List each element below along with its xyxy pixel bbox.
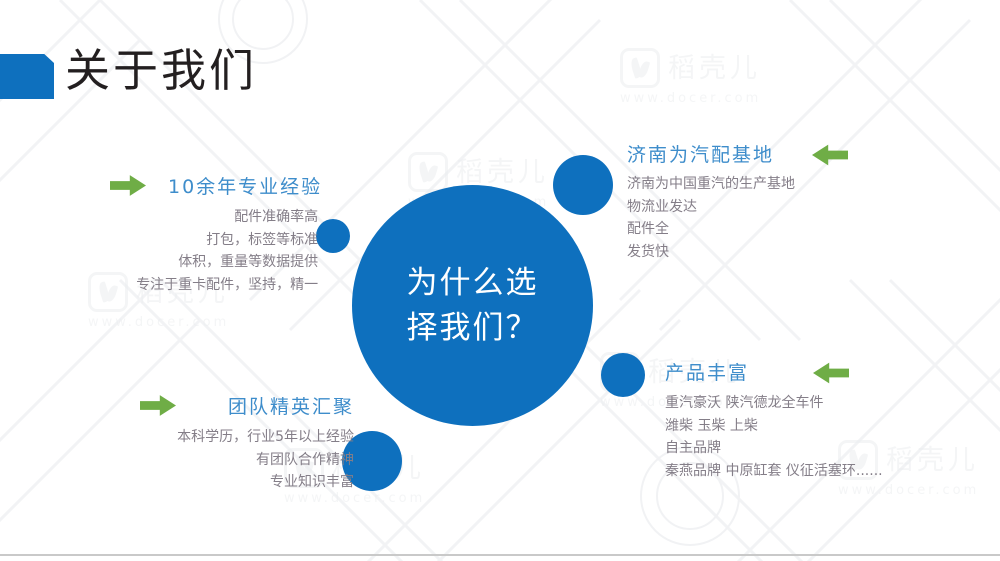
docer-leaf-icon	[408, 152, 448, 192]
center-circle-text: 为什么选 择我们？	[393, 261, 553, 351]
watermark-docer: 稻壳儿 www.docer.com	[620, 48, 761, 106]
center-circle-line-2: 择我们？	[393, 306, 553, 351]
decor-circle-right	[601, 353, 645, 397]
feature-block-experience: 10余年专业经验 配件准确率高 打包，标签等标准 体积，重量等数据提供 专注于重…	[110, 172, 322, 297]
feature-body-line: 潍柴 玉柴 上柴	[665, 415, 883, 438]
feature-body: 重汽豪沃 陕汽德龙全车件 潍柴 玉柴 上柴 自主品牌 秦燕品牌 中原缸套 仪征活…	[665, 392, 883, 483]
watermark-url: www.docer.com	[88, 315, 229, 330]
feature-body-line: 重汽豪沃 陕汽德龙全车件	[665, 392, 883, 415]
decor-circle-top-middle	[553, 155, 613, 215]
feature-body-line: 打包，标签等标准	[110, 229, 318, 252]
feature-body-line: 配件全	[627, 218, 795, 241]
watermark-brand: 稻壳儿	[456, 159, 549, 186]
feature-body-line: 济南为中国重汽的生产基地	[627, 173, 795, 196]
feature-body-line: 秦燕品牌 中原缸套 仪征活塞环......	[665, 460, 883, 483]
watermark-brand: 稻壳儿	[886, 447, 979, 474]
title-accent-block	[0, 54, 54, 99]
feature-block-team: 团队精英汇聚 本科学历，行业5年以上经验 有团队合作精神 专业知识丰富	[140, 392, 354, 494]
center-circle-line-1: 为什么选	[393, 261, 553, 306]
feature-body-line: 专注于重卡配件，坚持，精一	[110, 274, 318, 297]
feature-body-line: 有团队合作精神	[140, 449, 354, 472]
feature-body-line: 本科学历，行业5年以上经验	[140, 426, 354, 449]
feature-heading-row: 济南为汽配基地	[627, 140, 795, 167]
feature-block-base: 济南为汽配基地 济南为中国重汽的生产基地 物流业发达 配件全 发货快	[627, 140, 795, 264]
docer-leaf-icon	[620, 48, 660, 88]
watermark-url: www.docer.com	[620, 91, 761, 106]
arrow-right-icon	[110, 175, 146, 197]
center-circle: 为什么选 择我们？	[352, 185, 593, 426]
feature-heading: 10余年专业经验	[160, 172, 322, 199]
feature-body-line: 自主品牌	[665, 437, 883, 460]
feature-block-products: 产品丰富 重汽豪沃 陕汽德龙全车件 潍柴 玉柴 上柴 自主品牌 秦燕品牌 中原缸…	[665, 358, 883, 483]
arrow-left-icon	[813, 362, 849, 384]
feature-heading: 济南为汽配基地	[627, 140, 774, 167]
feature-heading: 团队精英汇聚	[190, 392, 354, 419]
feature-body-line: 专业知识丰富	[140, 471, 354, 494]
arrow-left-icon	[812, 144, 848, 166]
feature-heading-row: 团队精英汇聚	[140, 392, 354, 419]
page-title: 关于我们	[65, 43, 257, 99]
feature-body: 济南为中国重汽的生产基地 物流业发达 配件全 发货快	[627, 173, 795, 264]
feature-body-line: 配件准确率高	[110, 206, 318, 229]
arrow-right-icon	[140, 395, 176, 417]
feature-body-line: 体积，重量等数据提供	[110, 251, 318, 274]
feature-body: 本科学历，行业5年以上经验 有团队合作精神 专业知识丰富	[140, 426, 354, 494]
watermark-brand: 稻壳儿	[668, 55, 761, 82]
feature-body-line: 物流业发达	[627, 196, 795, 219]
slide-bottom-rule	[0, 554, 1000, 556]
feature-body-line: 发货快	[627, 241, 795, 264]
feature-heading-row: 10余年专业经验	[110, 172, 322, 199]
feature-heading: 产品丰富	[665, 358, 749, 385]
feature-body: 配件准确率高 打包，标签等标准 体积，重量等数据提供 专注于重卡配件，坚持，精一	[110, 206, 322, 297]
watermark-url: www.docer.com	[838, 483, 979, 498]
feature-heading-row: 产品丰富	[665, 358, 883, 385]
slide-canvas: 稻壳儿 www.docer.com 稻壳儿 www.docer.com 稻壳儿 …	[0, 0, 1000, 561]
